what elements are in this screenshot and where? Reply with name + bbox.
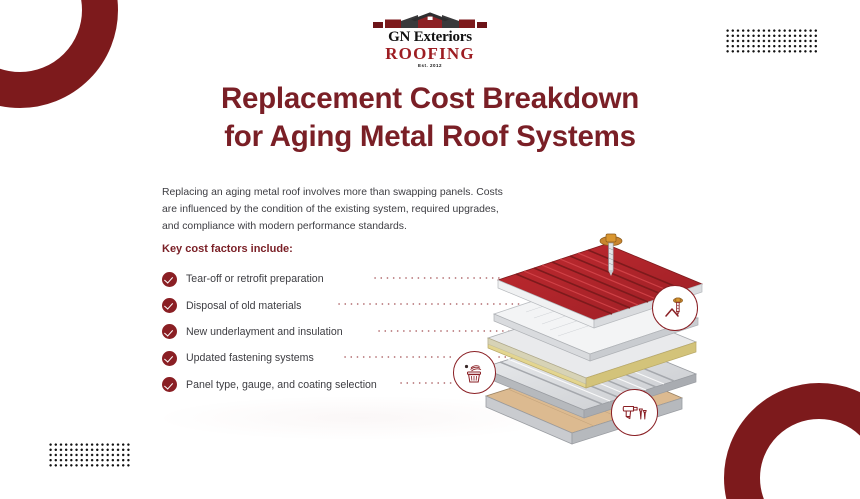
check-circle-icon <box>162 272 177 287</box>
list-item: Panel type, gauge, and coating selection <box>162 372 462 398</box>
page-title-line-1: Replacement Cost Breakdown <box>0 80 860 118</box>
list-item-label: Panel type, gauge, and coating selection <box>186 379 377 391</box>
logo-text-primary: GN Exteriors <box>355 30 505 45</box>
dot-grid-bottom-left <box>48 442 132 469</box>
list-item: Updated fastening systems <box>162 345 462 371</box>
list-item: Disposal of old materials <box>162 292 462 318</box>
check-circle-icon <box>162 377 177 392</box>
screw-fastener-icon <box>652 285 698 331</box>
dot-grid-top-right <box>725 28 818 54</box>
list-item-label: Disposal of old materials <box>186 300 301 312</box>
roof-house-icon <box>371 12 489 29</box>
brand-logo: GN Exteriors ROOFING Est. 2012 <box>355 12 505 68</box>
trash-disposal-icon <box>453 351 496 394</box>
exploded-metal-roof-assembly <box>448 228 710 450</box>
key-factors-heading: Key cost factors include: <box>162 243 293 255</box>
infographic-canvas: GN Exteriors ROOFING Est. 2012 Replaceme… <box>0 0 860 499</box>
power-drill-icon <box>611 389 658 436</box>
list-item-label: Updated fastening systems <box>186 352 314 364</box>
connector-line-4 <box>342 356 452 358</box>
check-circle-icon <box>162 298 177 313</box>
list-item: Tear-off or retrofit preparation <box>162 266 462 292</box>
decorative-arc-bottom-right <box>724 383 860 499</box>
page-title: Replacement Cost Breakdown for Aging Met… <box>0 80 860 156</box>
check-circle-icon <box>162 351 177 366</box>
list-item-label: Tear-off or retrofit preparation <box>186 273 324 285</box>
page-title-line-2: for Aging Metal Roof Systems <box>0 118 860 156</box>
check-circle-icon <box>162 324 177 339</box>
logo-text-secondary: ROOFING <box>355 45 505 63</box>
logo-established-text: Est. 2012 <box>355 63 505 68</box>
list-item-label: New underlayment and insulation <box>186 326 343 338</box>
